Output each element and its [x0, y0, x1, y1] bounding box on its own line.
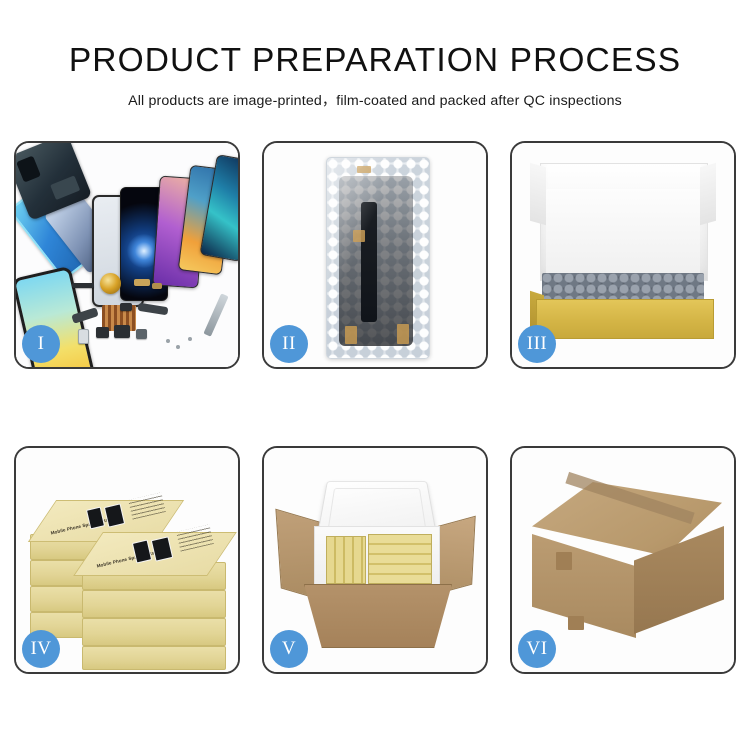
- process-step-panel-2[interactable]: II: [262, 141, 488, 369]
- tape-piece-1: [357, 166, 371, 173]
- lid-flap-left: [530, 163, 546, 226]
- part-dark-1: [96, 327, 109, 338]
- page-title: PRODUCT PREPARATION PROCESS: [0, 0, 750, 80]
- screw-1: [166, 339, 170, 343]
- carton-tape-upper: [556, 552, 572, 570]
- stacked-box-r3: [82, 618, 226, 646]
- page-subtitle: All products are image-printed，film-coat…: [0, 80, 750, 110]
- lid-flap-right: [700, 163, 716, 226]
- part-dark-3: [136, 329, 147, 339]
- tape-piece-3: [345, 326, 357, 344]
- carton-front-panel: [304, 584, 452, 648]
- step-badge-4: IV: [22, 630, 60, 668]
- bubble-wrap-pouch: [326, 157, 430, 359]
- box-front-panel: [536, 299, 714, 339]
- flex-cable-strip: [361, 202, 377, 322]
- part-dark-2: [114, 325, 130, 338]
- part-strip-1: [72, 283, 94, 288]
- yellow-boxes-right-group: [368, 534, 432, 584]
- step-badge-1: I: [22, 325, 60, 363]
- step-badge-2: II: [270, 325, 308, 363]
- process-step-panel-5[interactable]: V: [262, 446, 488, 674]
- process-step-panel-1[interactable]: I: [14, 141, 240, 369]
- part-white-1: [78, 329, 89, 344]
- step-badge-3: III: [518, 325, 556, 363]
- coil-component: [100, 273, 121, 294]
- page-header: PRODUCT PREPARATION PROCESS All products…: [0, 0, 750, 110]
- part-dark-4: [120, 303, 132, 311]
- stacked-box-r4: [82, 646, 226, 670]
- process-step-grid: I II III: [14, 141, 736, 674]
- step-badge-5: V: [270, 630, 308, 668]
- carton-left-face: [532, 534, 636, 638]
- screw-3: [188, 337, 192, 341]
- part-gold-1: [134, 279, 150, 286]
- foam-sheet: [546, 189, 700, 275]
- tape-piece-4: [397, 324, 409, 344]
- step-badge-6: VI: [518, 630, 556, 668]
- carton-tape-lower: [568, 616, 584, 630]
- process-step-panel-6[interactable]: VI: [510, 446, 736, 674]
- yellow-boxes-left-group: [326, 536, 366, 584]
- tape-piece-2: [353, 230, 365, 242]
- part-gold-2: [152, 283, 162, 289]
- process-step-panel-4[interactable]: Mobile Phone Spare Parts Mobile Phone Sp…: [14, 446, 240, 674]
- stacked-box-r2: [82, 590, 226, 618]
- process-step-panel-3[interactable]: III: [510, 141, 736, 369]
- screw-2: [176, 345, 180, 349]
